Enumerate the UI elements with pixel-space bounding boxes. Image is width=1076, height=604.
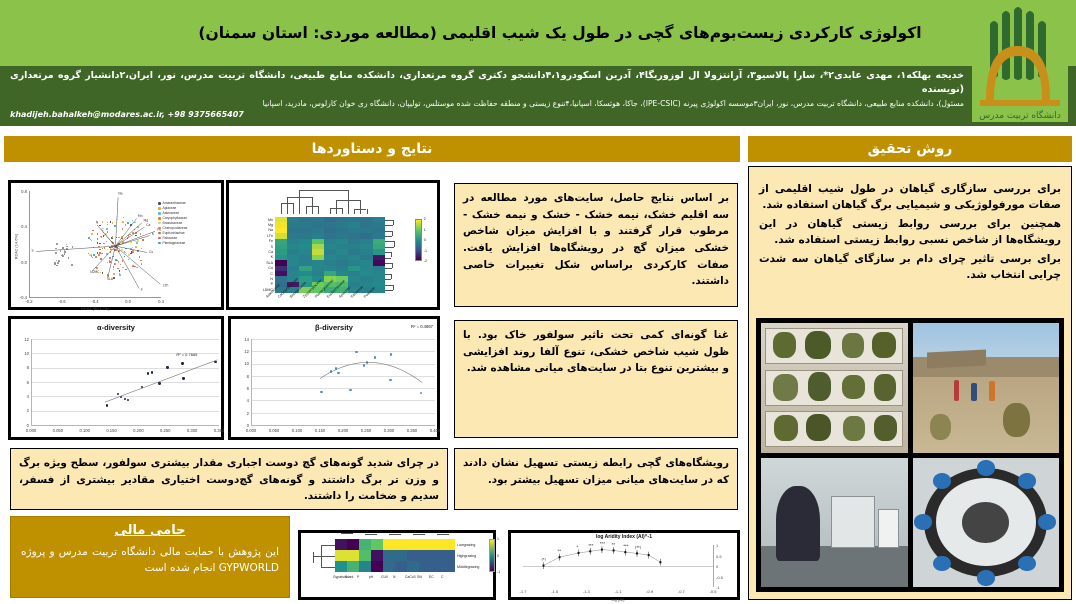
- photo-rosette-device: [913, 458, 1060, 588]
- svg-text:Na: Na: [118, 191, 122, 195]
- authors-affiliations: مسئول)، دانشکده منابع طبیعی، دانشگاه ترب…: [10, 98, 964, 109]
- svg-text:Ca: Ca: [146, 223, 150, 227]
- authors-block: خدیجه بهلکه۱، مهدی عابدی۲*، سارا پالاسیو…: [4, 66, 970, 126]
- method-paragraph-1: برای بررسی سازگاری گیاهان در طول شیب اقل…: [759, 181, 1061, 214]
- chart-beta-diversity: β-diversityR² = 0.4867024681012140.0000.…: [228, 316, 440, 440]
- funding-body: این پژوهش با حمایت مالی دانشگاه تربیت مد…: [21, 544, 279, 577]
- chart-grazing-heatmap: LowgrazingHighgrazingMiddlegrazingGypabu…: [298, 530, 496, 600]
- svg-text:LDMC: LDMC: [90, 270, 100, 274]
- svg-text:(*): (*): [541, 558, 546, 562]
- photo-lab-work: [761, 458, 908, 588]
- results-text-3: رویشگاه‌های گچی رابطه زیستی تسهیل نشان د…: [454, 448, 738, 510]
- method-paragraph-3: برای برسی تاثیر چرای دام بر سازگای گیاها…: [759, 251, 1061, 284]
- chart-trait-heatmap: MnMgNaLThFeSCaKSLACuCNPLDMCAsteraceaeCar…: [226, 180, 440, 310]
- university-logo: دانشگاه تربیت مدرس: [970, 2, 1070, 124]
- svg-text:(**): (**): [635, 545, 642, 549]
- page-title: اکولوژی کارکردی زیست‌بوم‌های گچی در طول …: [150, 0, 970, 66]
- svg-text:Mg: Mg: [143, 218, 148, 222]
- svg-text:Cu: Cu: [149, 250, 153, 254]
- svg-text:Mn: Mn: [138, 214, 143, 218]
- authors-contact: khadijeh.bahalkeh@modares.ac.ir, +98 937…: [10, 109, 964, 121]
- section-header-method: روش تحقیق: [748, 136, 1072, 162]
- method-paragraph-2: همچنین برای بررسی روابط زیستی گیاهان در …: [759, 216, 1061, 249]
- results-text-2: غنا گونه‌ای کمی تحت تاثیر سولفور خاک بود…: [454, 320, 738, 438]
- chart-aridity-rii: log Aridity Index (AI)^-110.50-0.5-1-1.7…: [508, 530, 740, 600]
- chart-alpha-diversity: α-diversity0246810120.0000.0500.1000.150…: [8, 316, 224, 440]
- method-photo-grid: [756, 318, 1064, 592]
- svg-text:LTh: LTh: [163, 284, 168, 288]
- poster-root: اکولوژی کارکردی زیست‌بوم‌های گچی در طول …: [0, 0, 1076, 604]
- funding-box: حامی مالی این پژوهش با حمایت مالی دانشگا…: [10, 516, 290, 598]
- svg-text:دانشگاه تربیت مدرس: دانشگاه تربیت مدرس: [979, 109, 1061, 121]
- photo-field-site: [913, 323, 1060, 453]
- chart-rda-biplot: -0.2-0.6-0.40.00.40.80.40.0-0.4RDA1 (80.…: [8, 180, 224, 310]
- svg-text:K: K: [152, 232, 155, 236]
- authors-names: خدیجه بهلکه۱، مهدی عابدی۲*، سارا پالاسیو…: [10, 69, 964, 98]
- results-text-1: بر اساس نتایج حاصل، سایت‌های مورد مطالعه…: [454, 183, 738, 307]
- svg-text:***: ***: [600, 542, 605, 546]
- method-text: برای بررسی سازگاری گیاهان در طول شیب اقل…: [749, 167, 1071, 289]
- results-text-4: در چرای شدید گونه‌های گچ دوست اجباری مقد…: [10, 448, 448, 510]
- svg-text:**: **: [612, 542, 616, 546]
- photo-plant-specimens: [761, 323, 908, 453]
- funding-title: حامی مالی: [21, 523, 279, 538]
- svg-text:***: ***: [588, 543, 593, 547]
- svg-text:*: *: [577, 545, 579, 549]
- svg-text:S: S: [32, 249, 34, 253]
- svg-text:***: ***: [623, 544, 628, 548]
- svg-text:C: C: [101, 227, 104, 231]
- svg-text:P: P: [141, 288, 143, 292]
- section-header-results: نتایج و دستاوردها: [4, 136, 740, 162]
- svg-text:**: **: [558, 549, 562, 553]
